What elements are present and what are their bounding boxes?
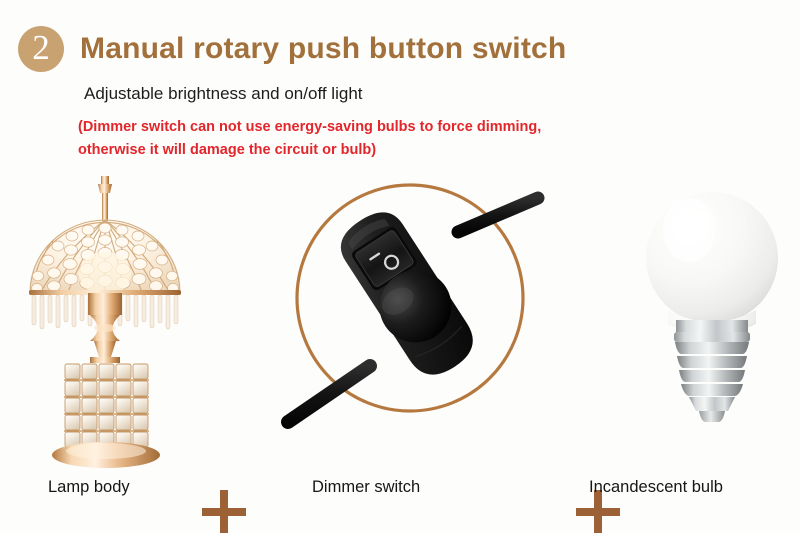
crystal-table-lamp-icon xyxy=(10,170,200,480)
header-block: 2 Manual rotary push button switch Adjus… xyxy=(0,0,800,175)
warning-text-line-2: otherwise it will damage the circuit or … xyxy=(78,142,376,158)
subtitle: Adjustable brightness and on/off light xyxy=(84,84,363,104)
warning-text-line-1: (Dimmer switch can not use energy-saving… xyxy=(78,119,541,135)
plus-separator-1 xyxy=(200,488,248,533)
product-row xyxy=(0,170,800,480)
product-lamp-body xyxy=(10,170,200,480)
page-title: Manual rotary push button switch xyxy=(80,32,566,66)
caption-dimmer-switch: Dimmer switch xyxy=(312,478,420,497)
plus-bar-vertical xyxy=(220,490,228,533)
product-dimmer-switch xyxy=(262,170,562,480)
step-number-badge: 2 xyxy=(18,26,64,72)
infographic-page: 2 Manual rotary push button switch Adjus… xyxy=(0,0,800,533)
inline-dimmer-switch-icon xyxy=(262,170,562,480)
product-incandescent-bulb xyxy=(632,170,792,480)
title-row: 2 Manual rotary push button switch xyxy=(18,26,566,72)
frosted-globe-bulb-icon xyxy=(632,170,792,480)
caption-incandescent-bulb: Incandescent bulb xyxy=(589,478,723,497)
caption-lamp-body: Lamp body xyxy=(48,478,130,497)
